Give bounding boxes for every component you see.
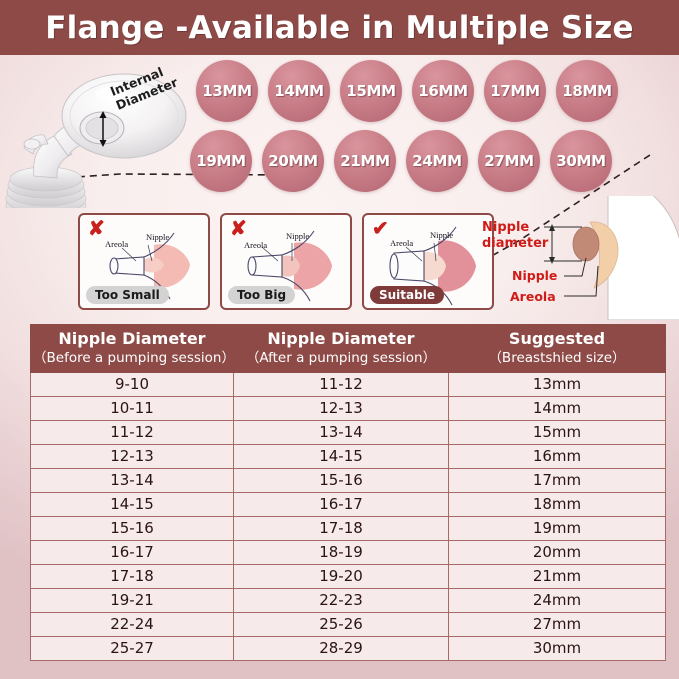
column-header-main: Nipple Diameter	[236, 329, 446, 349]
nipple-label: Nipple	[286, 231, 309, 241]
table-header-row: Nipple Diameter （Before a pumping sessio…	[31, 325, 666, 373]
cell-suggested: 21mm	[449, 565, 666, 589]
fit-comparison-group: ✘ Areola Nipple Too Small ✘	[78, 213, 494, 310]
nipple-label: Nipple	[512, 268, 557, 283]
column-header-sub: （Breastshied size）	[451, 349, 663, 367]
cell-after: 16-17	[234, 493, 449, 517]
table-row: 9-1011-1213mm	[31, 373, 666, 397]
cell-after: 28-29	[234, 637, 449, 661]
cell-before: 10-11	[31, 397, 234, 421]
sizing-table: Nipple Diameter （Before a pumping sessio…	[30, 324, 666, 661]
table-row: 11-1213-1415mm	[31, 421, 666, 445]
size-badge-20mm[interactable]: 20MM	[262, 130, 324, 192]
areola-label: Areola	[390, 238, 413, 248]
size-badge-label: 17MM	[490, 82, 540, 100]
size-badge-16mm[interactable]: 16MM	[412, 60, 474, 122]
areola-label: Areola	[510, 289, 556, 304]
column-header-main: Nipple Diameter	[33, 329, 231, 349]
cell-suggested: 13mm	[449, 373, 666, 397]
cell-after: 25-26	[234, 613, 449, 637]
nipple-label: Nipple	[146, 232, 169, 242]
cell-before: 17-18	[31, 565, 234, 589]
fit-tag-too-small: Too Small	[86, 286, 169, 304]
cell-after: 15-16	[234, 469, 449, 493]
table-row: 14-1516-1718mm	[31, 493, 666, 517]
size-badge-19mm[interactable]: 19MM	[190, 130, 252, 192]
nipple-label: Nipple	[430, 230, 453, 240]
cell-suggested: 16mm	[449, 445, 666, 469]
cell-after: 14-15	[234, 445, 449, 469]
cell-before: 25-27	[31, 637, 234, 661]
cell-after: 13-14	[234, 421, 449, 445]
column-header-before: Nipple Diameter （Before a pumping sessio…	[31, 325, 234, 373]
fit-tag-too-big: Too Big	[228, 286, 295, 304]
areola-label: Areola	[105, 239, 128, 249]
size-badge-21mm[interactable]: 21MM	[334, 130, 396, 192]
size-badge-label: 30MM	[556, 152, 606, 170]
cell-suggested: 20mm	[449, 541, 666, 565]
cell-suggested: 17mm	[449, 469, 666, 493]
cell-suggested: 15mm	[449, 421, 666, 445]
fit-box-too-small: ✘ Areola Nipple Too Small	[78, 213, 210, 310]
cell-before: 15-16	[31, 517, 234, 541]
column-header-after: Nipple Diameter （After a pumping session…	[234, 325, 449, 373]
size-badge-label: 27MM	[484, 152, 534, 170]
table-row: 19-2122-2324mm	[31, 589, 666, 613]
table-row: 25-2728-2930mm	[31, 637, 666, 661]
column-header-suggested: Suggested （Breastshied size）	[449, 325, 666, 373]
size-badge-label: 15MM	[346, 82, 396, 100]
cell-before: 13-14	[31, 469, 234, 493]
cell-before: 16-17	[31, 541, 234, 565]
fit-box-too-big: ✘ Areola Nipple Too Big	[220, 213, 352, 310]
cell-before: 22-24	[31, 613, 234, 637]
table-row: 13-1415-1617mm	[31, 469, 666, 493]
cell-before: 19-21	[31, 589, 234, 613]
areola-label: Areola	[244, 240, 267, 250]
size-badge-grid: 13MM 14MM 15MM 16MM 17MM 18MM 19MM 20MM …	[196, 60, 679, 200]
cell-after: 19-20	[234, 565, 449, 589]
size-badge-27mm[interactable]: 27MM	[478, 130, 540, 192]
size-badge-15mm[interactable]: 15MM	[340, 60, 402, 122]
cell-after: 18-19	[234, 541, 449, 565]
size-badge-24mm[interactable]: 24MM	[406, 130, 468, 192]
cell-suggested: 24mm	[449, 589, 666, 613]
table-row: 12-1314-1516mm	[31, 445, 666, 469]
cell-suggested: 30mm	[449, 637, 666, 661]
size-badge-label: 18MM	[562, 82, 612, 100]
fit-box-suitable: ✔ Areola Nipple Suitable	[362, 213, 494, 310]
table-body: 9-1011-1213mm 10-1112-1314mm 11-1213-141…	[31, 373, 666, 661]
size-badge-label: 21MM	[340, 152, 390, 170]
size-badge-18mm[interactable]: 18MM	[556, 60, 618, 122]
cell-after: 17-18	[234, 517, 449, 541]
cell-before: 14-15	[31, 493, 234, 517]
cell-after: 12-13	[234, 397, 449, 421]
size-badge-label: 14MM	[274, 82, 324, 100]
size-badge-row-2: 19MM 20MM 21MM 24MM 27MM 30MM	[190, 130, 679, 192]
cell-before: 9-10	[31, 373, 234, 397]
fit-tag-suitable: Suitable	[370, 286, 444, 304]
table-row: 10-1112-1314mm	[31, 397, 666, 421]
table-row: 16-1718-1920mm	[31, 541, 666, 565]
cell-before: 12-13	[31, 445, 234, 469]
table-row: 22-2425-2627mm	[31, 613, 666, 637]
cell-suggested: 18mm	[449, 493, 666, 517]
column-header-main: Suggested	[451, 329, 663, 349]
infographic-page: Flange -Available in Multiple Size	[0, 0, 679, 679]
nipple-diameter-label: Nipple diameter	[482, 220, 548, 252]
size-badge-label: 24MM	[412, 152, 462, 170]
column-header-sub: （Before a pumping session）	[33, 349, 231, 367]
cell-after: 11-12	[234, 373, 449, 397]
page-banner: Flange -Available in Multiple Size	[0, 0, 679, 55]
cell-suggested: 19mm	[449, 517, 666, 541]
table-row: 15-1617-1819mm	[31, 517, 666, 541]
size-badge-14mm[interactable]: 14MM	[268, 60, 330, 122]
size-badge-label: 16MM	[418, 82, 468, 100]
cell-suggested: 14mm	[449, 397, 666, 421]
cell-before: 11-12	[31, 421, 234, 445]
size-badge-30mm[interactable]: 30MM	[550, 130, 612, 192]
table-row: 17-1819-2021mm	[31, 565, 666, 589]
breast-anatomy-diagram	[478, 196, 679, 320]
table-header: Nipple Diameter （Before a pumping sessio…	[31, 325, 666, 373]
size-badge-label: 20MM	[268, 152, 318, 170]
size-badge-13mm[interactable]: 13MM	[196, 60, 258, 122]
column-header-sub: （After a pumping session）	[236, 349, 446, 367]
size-badge-17mm[interactable]: 17MM	[484, 60, 546, 122]
cell-suggested: 27mm	[449, 613, 666, 637]
size-badge-row-1: 13MM 14MM 15MM 16MM 17MM 18MM	[196, 60, 679, 122]
cell-after: 22-23	[234, 589, 449, 613]
size-badge-label: 19MM	[196, 152, 246, 170]
size-badge-label: 13MM	[202, 82, 252, 100]
page-title: Flange -Available in Multiple Size	[45, 10, 633, 46]
